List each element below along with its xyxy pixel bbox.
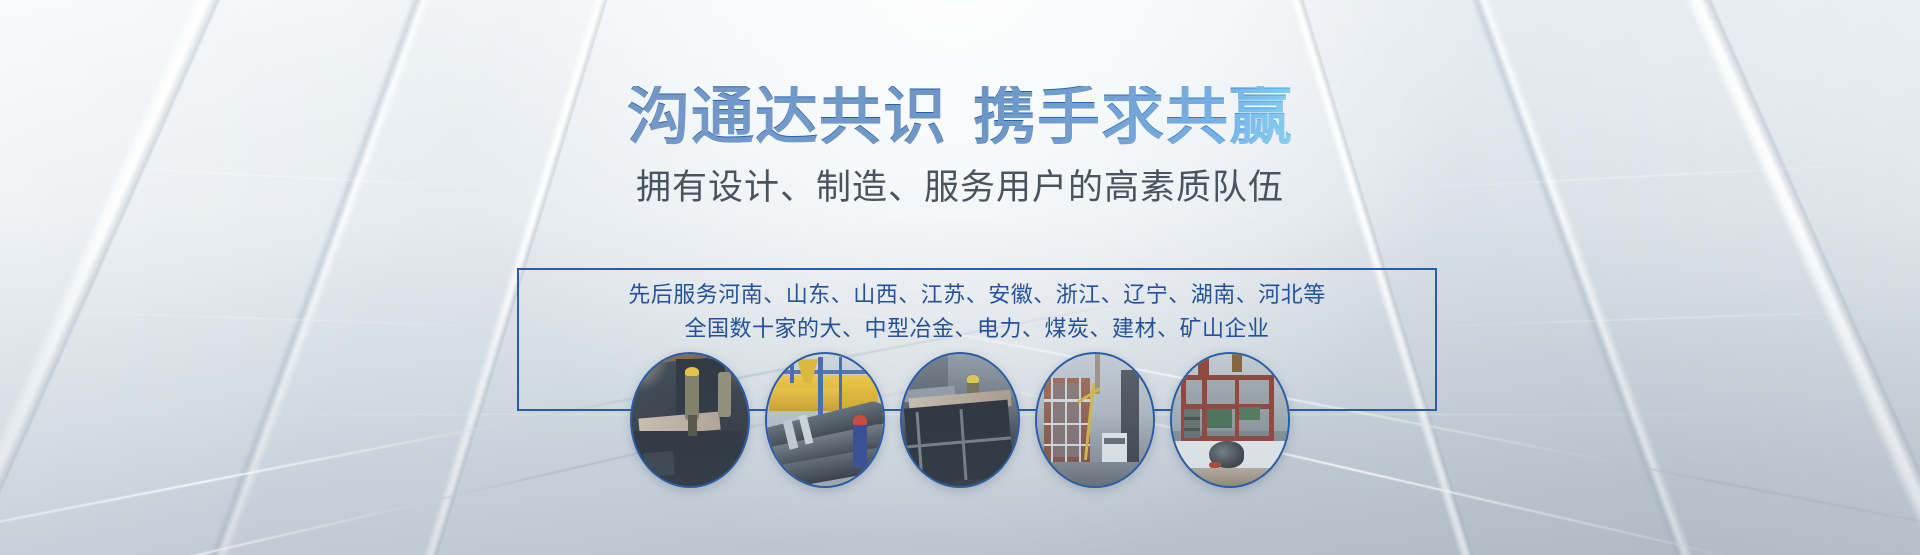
- photo2-rail: [767, 370, 883, 374]
- photo1-worker-body: [685, 372, 699, 420]
- photo5-rack-shelf-1: [1184, 417, 1200, 420]
- promo-banner: 沟通达共识携手求共赢 拥有设计、制造、服务用户的高素质队伍 先后服务河南、山东、…: [0, 0, 1920, 555]
- photo4-ground: [1037, 462, 1153, 486]
- photo4-column-2: [1065, 378, 1067, 462]
- photo1-highlight: [632, 354, 667, 394]
- photo4-building-band: [1104, 438, 1125, 443]
- photo5-floor: [1172, 468, 1288, 486]
- region-text-line-2: 全国数十家的大、中型冶金、电力、煤炭、建材、矿山企业: [517, 312, 1437, 346]
- photo2-worker-body: [853, 423, 867, 468]
- photo2-frame-2: [839, 357, 842, 412]
- photo5-rack-shelf-2: [1184, 428, 1200, 431]
- photo5-rack: [1184, 409, 1200, 438]
- photo1-panel-d: [643, 451, 675, 477]
- photo5-equipment-1: [1207, 409, 1233, 427]
- yellow-plant-pipes-photo[interactable]: [765, 352, 885, 488]
- photo4-girder-3: [1044, 444, 1090, 447]
- photo1-worker-second: [718, 372, 731, 417]
- steel-frame-workshop-photo[interactable]: [1170, 352, 1290, 488]
- photo-scene: [632, 354, 748, 486]
- banner-headline: 沟通达共识携手求共赢: [627, 86, 1293, 149]
- photo2-frame-1: [818, 357, 823, 415]
- banner-subtitle: 拥有设计、制造、服务用户的高素质队伍: [636, 169, 1284, 208]
- hard-hat-icon: [853, 415, 867, 426]
- elevated-container-photo[interactable]: [900, 352, 1020, 488]
- photo5-upper-beam-1: [1198, 354, 1210, 375]
- photo4-girder-2: [1044, 423, 1090, 426]
- photo5-upper-beam-2: [1232, 354, 1241, 372]
- photo-scene: [1172, 354, 1288, 486]
- hard-hat-icon: [967, 375, 979, 383]
- headline-part-1: 沟通达共识: [627, 82, 947, 152]
- photo5-equipment-2: [1239, 407, 1260, 420]
- lining-installation-photo[interactable]: [630, 352, 750, 488]
- headline-part-2: 携手求共赢: [973, 82, 1293, 152]
- photo-scene: [902, 354, 1018, 486]
- project-photo-strip: [0, 352, 1920, 488]
- plant-construction-photo[interactable]: [1035, 352, 1155, 488]
- hard-hat-icon: [685, 367, 699, 376]
- photo1-worker-legs: [688, 415, 697, 436]
- banner-content: 沟通达共识携手求共赢 拥有设计、制造、服务用户的高素质队伍 先后服务河南、山东、…: [0, 0, 1920, 555]
- photo4-column-1: [1051, 378, 1053, 462]
- photo2-tank-2: [769, 388, 839, 410]
- photo-scene: [1037, 354, 1153, 486]
- photo2-frame-3: [790, 357, 793, 383]
- region-text-block: 先后服务河南、山东、山西、江苏、安徽、浙江、辽宁、湖南、河北等 全国数十家的大、…: [517, 278, 1437, 346]
- photo-scene: [767, 354, 883, 486]
- photo4-column-3: [1079, 378, 1081, 462]
- region-text-line-1: 先后服务河南、山东、山西、江苏、安徽、浙江、辽宁、湖南、河北等: [517, 278, 1437, 312]
